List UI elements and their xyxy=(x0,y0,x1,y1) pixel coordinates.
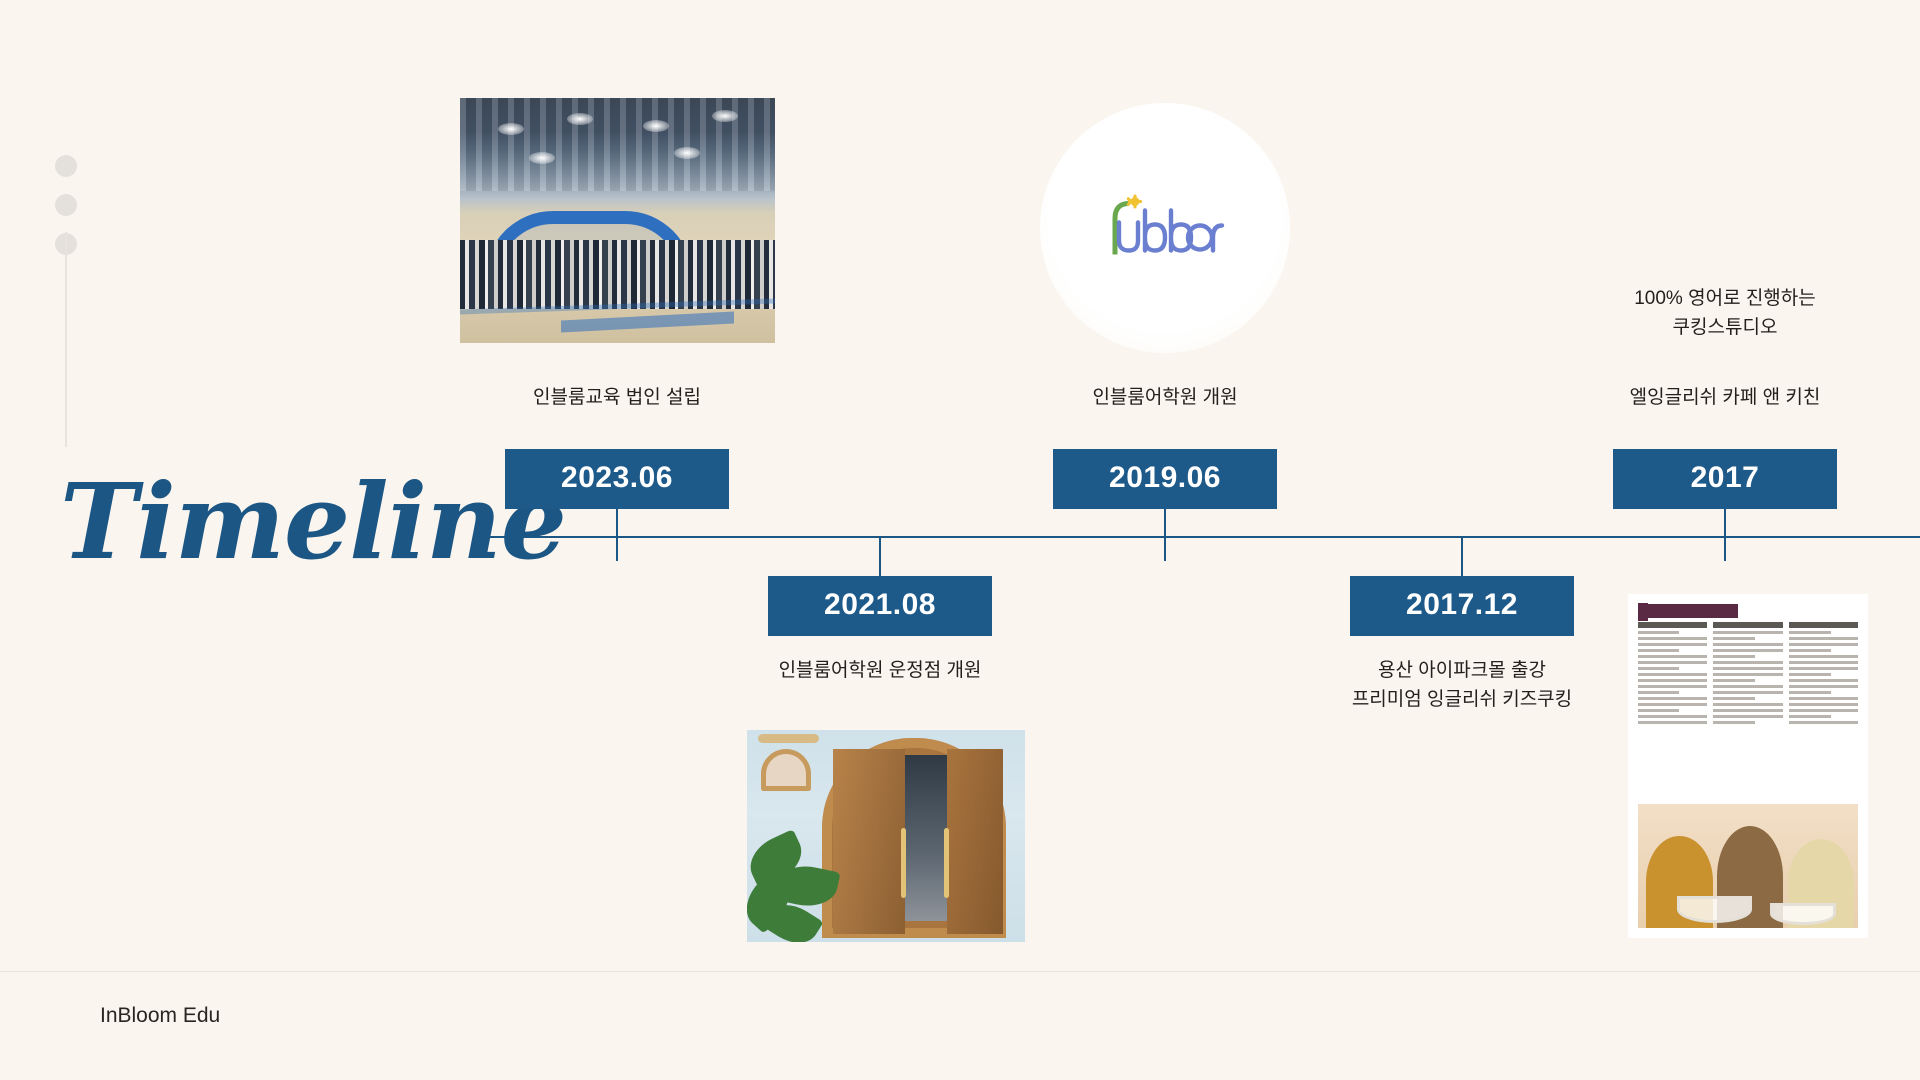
milestone-stem xyxy=(879,538,881,576)
milestone-image-kids-cooking-brochure xyxy=(1628,594,1868,938)
milestone-stem xyxy=(1461,538,1463,576)
milestone-caption: 인블룸교육 법인 설립 xyxy=(467,383,767,412)
milestone-image-gymnasium xyxy=(460,98,775,343)
milestone-caption: 인블룸어학원 개원 xyxy=(1015,383,1315,412)
timeline-axis xyxy=(478,536,1920,538)
milestone-date-badge[interactable]: 2019.06 xyxy=(1053,449,1277,509)
milestone-date-badge[interactable]: 2023.06 xyxy=(505,449,729,509)
footer-divider xyxy=(0,971,1920,972)
footer-brand: InBloom Edu xyxy=(100,1004,220,1028)
milestone-5: 100% 영어로 진행하는 쿠킹스튜디오 엘잉글리쉬 카페 앤 키친 2017 xyxy=(1575,284,1875,343)
milestone-caption: 용산 아이파크몰 출강 프리미엄 잉글리쉬 키즈쿠킹 xyxy=(1312,656,1612,715)
milestone-image-inbloom-logo xyxy=(1040,103,1290,353)
milestone-3: 인블룸어학원 개원 2019.06 xyxy=(1015,383,1315,412)
milestone-date-badge[interactable]: 2017.12 xyxy=(1350,576,1574,636)
decorative-vertical-line xyxy=(65,232,67,447)
milestone-image-academy-entrance xyxy=(747,730,1025,942)
decorative-dot xyxy=(55,194,77,216)
milestone-sub-caption: 100% 영어로 진행하는 쿠킹스튜디오 xyxy=(1575,284,1875,343)
milestone-1: 인블룸교육 법인 설립 2023.06 xyxy=(467,383,767,412)
milestone-caption: 엘잉글리쉬 카페 앤 키친 xyxy=(1575,383,1875,412)
inbloom-logo-mark xyxy=(1105,195,1225,262)
milestone-caption: 인블룸어학원 운정점 개원 xyxy=(730,656,1030,685)
milestone-date-badge[interactable]: 2017 xyxy=(1613,449,1837,509)
milestone-date-badge[interactable]: 2021.08 xyxy=(768,576,992,636)
decorative-dot xyxy=(55,155,77,177)
page-title: Timeline xyxy=(60,470,566,574)
slide-canvas: Timeline 인블룸교육 법인 설립 2023.06 2021.08 인블룸… xyxy=(0,0,1920,1080)
